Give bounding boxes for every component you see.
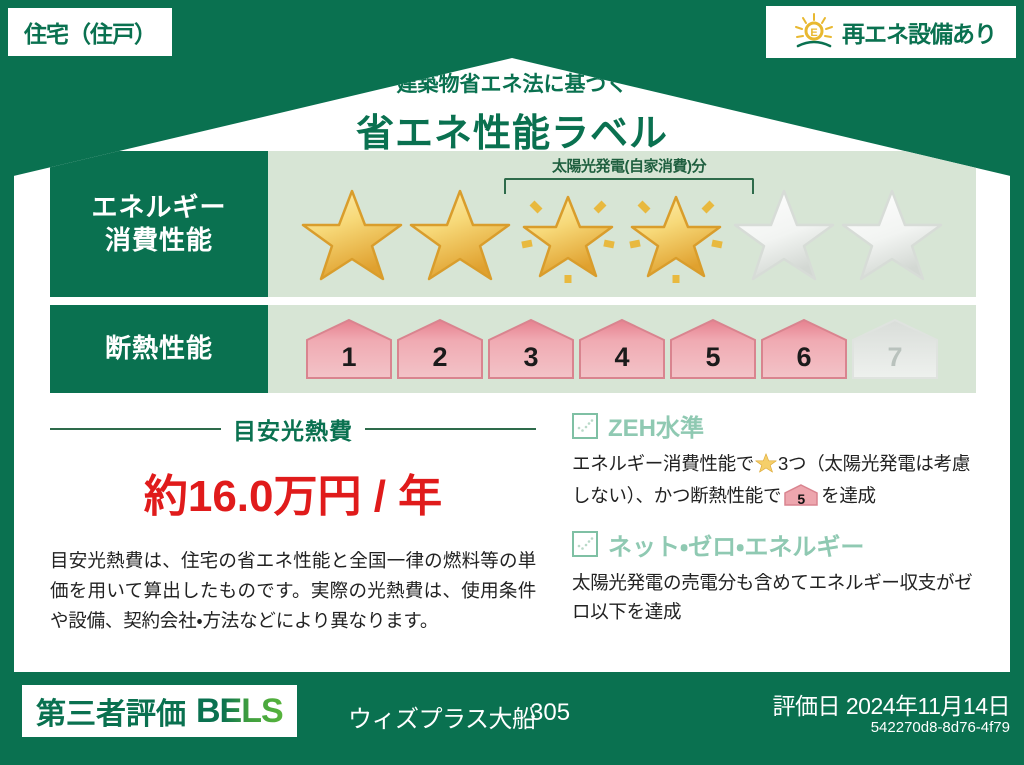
star-rating xyxy=(268,151,976,297)
criteria-net-zero: ネット・ゼロ・エネルギー 太陽光発電の売電分も含めてエネルギー収支がゼロ以下を達… xyxy=(572,527,976,627)
cost-disclaimer: 目安光熱費は、住宅の省エネ性能と全国一律の燃料等の単価を用いて算出したものです。… xyxy=(50,546,536,636)
criteria-net-zero-head: ネット・ゼロ・エネルギー xyxy=(572,527,976,562)
star-4-filled-solar xyxy=(624,183,728,283)
insulation-grade-1: 1 xyxy=(305,318,393,380)
cost-heading-label: 目安光熱費 xyxy=(233,412,353,446)
criteria-zeh-title: ZEH水準 xyxy=(608,408,704,443)
insulation-grade-4: 4 xyxy=(578,318,666,380)
criteria-zeh-text-part1: エネルギー消費性能で xyxy=(572,453,754,474)
criteria-net-zero-title: ネット・ゼロ・エネルギー xyxy=(608,527,864,562)
unit-number: 305 xyxy=(530,699,570,727)
insulation-grade-6: 6 xyxy=(760,318,848,380)
evaluation-date: 評価日 2024年11月14日 xyxy=(772,687,1010,721)
criteria-zeh-head: ZEH水準 xyxy=(572,408,976,443)
energy-performance-label-block: エネルギー 消費性能 xyxy=(50,151,268,297)
label-card: 建築物省エネ法に基づく 省エネ性能ラベル エネルギー 消費性能 太陽光発電(自家… xyxy=(14,58,1010,672)
energy-performance-row: エネルギー 消費性能 太陽光発電(自家消費)分 xyxy=(50,151,976,297)
renewable-equipment-badge: E 再エネ設備あり xyxy=(766,6,1016,58)
housing-type-badge: 住宅（住戸） xyxy=(8,8,172,56)
housing-type-label: 住宅（住戸） xyxy=(24,15,156,49)
insulation-grade-scale: 1 2 3 4 xyxy=(268,305,976,393)
renewable-equipment-label: 再エネ設備あり xyxy=(842,15,996,49)
bels-logo-text: BELS xyxy=(196,692,283,731)
bels-third-party-label: 第三者評価 xyxy=(36,689,186,733)
lower-section: 目安光熱費 約16.0万円 / 年 目安光熱費は、住宅の省エネ性能と全国一律の燃… xyxy=(50,408,976,658)
criteria-zeh-text: エネルギー消費性能で3つ（太陽光発電は考慮しない）、かつ断熱性能で5を達成 xyxy=(572,450,976,511)
criteria-zeh: ZEH水準 エネルギー消費性能で3つ（太陽光発電は考慮しない）、かつ断熱性能で5… xyxy=(572,408,976,511)
insulation-grade-3: 3 xyxy=(487,318,575,380)
inline-grade-badge-icon: 5 xyxy=(784,484,818,506)
star-3-filled-solar xyxy=(516,183,620,283)
cost-heading-rule-right xyxy=(365,428,536,430)
evaluation-id: 542270d8-8d76-4f79 xyxy=(871,719,1010,736)
criteria-column: ZEH水準 エネルギー消費性能で3つ（太陽光発電は考慮しない）、かつ断熱性能で5… xyxy=(550,408,976,658)
insulation-performance-body: 1 2 3 4 xyxy=(268,305,976,393)
net-zero-checkbox-icon xyxy=(572,531,598,557)
insulation-grade-2: 2 xyxy=(396,318,484,380)
criteria-net-zero-text: 太陽光発電の売電分も含めてエネルギー収支がゼロ以下を達成 xyxy=(572,569,976,627)
cost-value: 約16.0万円 / 年 xyxy=(50,460,536,524)
zeh-checkbox-icon xyxy=(572,413,598,439)
energy-performance-label: 住宅（住戸） E 再エネ設備あり xyxy=(0,0,1024,765)
criteria-zeh-text-part3: を達成 xyxy=(821,485,876,506)
insulation-performance-row: 断熱性能 1 xyxy=(50,305,976,393)
title-block: 建築物省エネ法に基づく 省エネ性能ラベル xyxy=(14,68,1010,157)
insulation-grade-7: 7 xyxy=(851,318,939,380)
star-1-filled xyxy=(300,183,404,283)
inline-star-icon xyxy=(755,452,777,482)
solar-sun-icon: E xyxy=(792,12,836,52)
cost-heading: 目安光熱費 xyxy=(50,412,536,446)
inline-grade-badge-number: 5 xyxy=(784,489,818,511)
cost-heading-rule-left xyxy=(50,428,221,430)
page-title: 省エネ性能ラベル xyxy=(14,102,1010,157)
building-name: ウィズプラス大船 xyxy=(348,699,536,734)
bels-badge: 第三者評価 BELS xyxy=(22,685,297,737)
star-6-empty xyxy=(840,183,944,283)
svg-text:E: E xyxy=(810,27,817,39)
criteria-zeh-star-count: 3つ xyxy=(778,453,806,474)
insulation-performance-label-block: 断熱性能 xyxy=(50,305,268,393)
energy-performance-body: 太陽光発電(自家消費)分 xyxy=(268,151,976,297)
insulation-label: 断熱性能 xyxy=(105,332,213,365)
star-2-filled xyxy=(408,183,512,283)
energy-label-line1: エネルギー xyxy=(91,191,226,224)
energy-label-line2: 消費性能 xyxy=(105,224,213,257)
footer-bar: 第三者評価 BELS ウィズプラス大船 305 評価日 2024年11月14日 … xyxy=(0,675,1024,765)
cost-column: 目安光熱費 約16.0万円 / 年 目安光熱費は、住宅の省エネ性能と全国一律の燃… xyxy=(50,408,550,658)
insulation-grade-5: 5 xyxy=(669,318,757,380)
title-subtitle: 建築物省エネ法に基づく xyxy=(14,68,1010,98)
star-5-empty xyxy=(732,183,836,283)
